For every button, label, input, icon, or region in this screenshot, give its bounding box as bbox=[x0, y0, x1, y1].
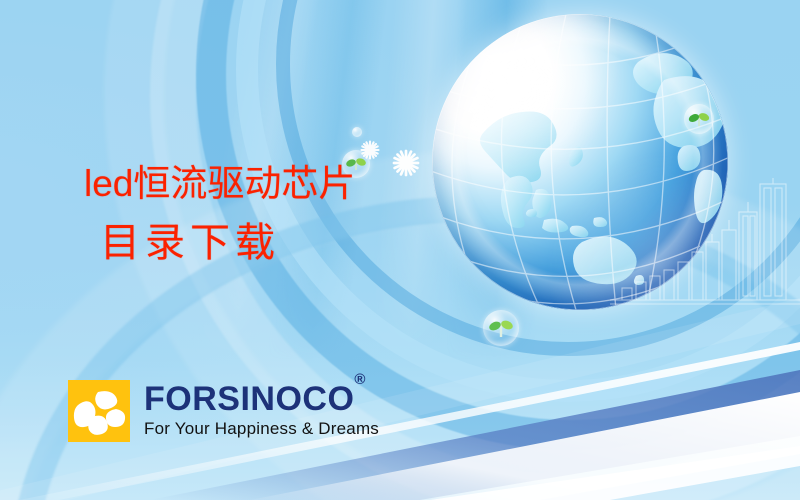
diagonal-light-bands bbox=[0, 240, 800, 500]
registered-trademark-icon: ® bbox=[354, 371, 366, 388]
headline-line-2: 目录下载 bbox=[100, 221, 355, 265]
sparkle-small bbox=[360, 140, 380, 160]
sparkle-large bbox=[392, 149, 420, 177]
company-logo: FORSINOCO® For Your Happiness & Dreams bbox=[68, 380, 379, 442]
bubble-sprout-right bbox=[684, 104, 714, 134]
logo-wordmark-text: FORSINOCO bbox=[144, 380, 354, 418]
diagonal-bands-svg bbox=[0, 240, 800, 500]
starburst-icon bbox=[360, 140, 380, 160]
banner-canvas: led恒流驱动芯片 目录下载 FORSINOCO® For Your Happi… bbox=[0, 0, 800, 500]
headline-line-1: led恒流驱动芯片 bbox=[84, 164, 355, 205]
logo-wordmark: FORSINOCO® bbox=[144, 382, 379, 416]
logo-tagline: For Your Happiness & Dreams bbox=[144, 420, 379, 437]
sprout-icon bbox=[684, 104, 714, 134]
forsinoco-logo-mark-icon bbox=[68, 380, 130, 442]
headline-text-block: led恒流驱动芯片 目录下载 bbox=[84, 164, 355, 265]
starburst-icon bbox=[392, 149, 420, 177]
bubble-plain-small bbox=[352, 127, 362, 137]
logo-text-block: FORSINOCO® For Your Happiness & Dreams bbox=[144, 382, 379, 437]
sprout-icon bbox=[483, 310, 519, 346]
bubble-sprout-lower bbox=[483, 310, 519, 346]
